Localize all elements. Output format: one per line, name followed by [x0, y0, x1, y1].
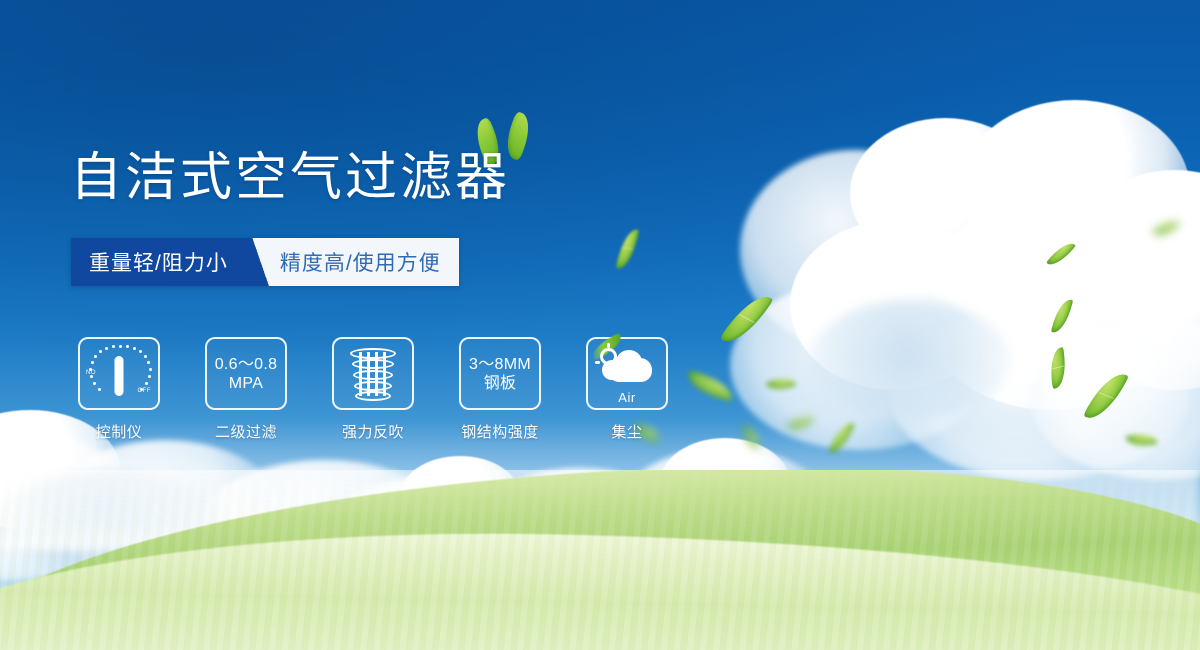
air-label: Air	[596, 390, 658, 405]
feature-label: 集尘	[586, 421, 668, 442]
pressure-unit: MPA	[215, 374, 278, 393]
ribbon-segment-right: 精度高/使用方便	[274, 238, 459, 286]
grass-field	[0, 470, 1200, 650]
feature-box	[332, 337, 414, 410]
gauge-no-label: NO	[86, 370, 96, 376]
feature-label: 控制仪	[78, 421, 160, 442]
air-cloud-icon: Air	[596, 346, 658, 402]
feature-item-dust[interactable]: Air 集尘	[586, 337, 668, 442]
feature-item-blowback[interactable]: 强力反吹	[332, 337, 414, 442]
feature-box: NO OFF	[78, 337, 160, 410]
feature-label: 钢结构强度	[459, 421, 541, 442]
steel-thickness: 3～8MM	[469, 355, 531, 374]
control-gauge-icon: NO OFF	[88, 344, 150, 404]
subtitle-ribbon: 重量轻/阻力小 精度高/使用方便	[71, 238, 459, 286]
feature-item-steel[interactable]: 3～8MM 钢板 钢结构强度	[459, 337, 541, 442]
gauge-off-label: OFF	[138, 388, 152, 394]
feature-item-control[interactable]: NO OFF 控制仪	[78, 337, 160, 442]
ribbon-divider	[248, 238, 274, 286]
pressure-value: 0.6～0.8	[215, 355, 278, 374]
hero-banner: 自洁式空气过滤器 重量轻/阻力小 精度高/使用方便	[0, 0, 1200, 650]
grass-texture	[0, 470, 1200, 650]
ribbon-segment-left: 重量轻/阻力小	[71, 238, 248, 286]
feature-box: 3～8MM 钢板	[459, 337, 541, 410]
page-title: 自洁式空气过滤器	[70, 148, 510, 208]
feature-box: Air	[586, 337, 668, 410]
steel-text-icon: 3～8MM 钢板	[469, 355, 531, 393]
steel-material: 钢板	[469, 374, 531, 393]
feature-box: 0.6～0.8 MPA	[205, 337, 287, 410]
feature-item-pressure[interactable]: 0.6～0.8 MPA 二级过滤	[205, 337, 287, 442]
feature-label: 二级过滤	[205, 421, 287, 442]
feature-list: NO OFF 控制仪 0.6～0.8 MPA 二级过滤	[78, 337, 668, 442]
pressure-text-icon: 0.6～0.8 MPA	[215, 355, 278, 393]
feature-label: 强力反吹	[332, 421, 414, 442]
filter-coil-icon	[348, 346, 398, 402]
